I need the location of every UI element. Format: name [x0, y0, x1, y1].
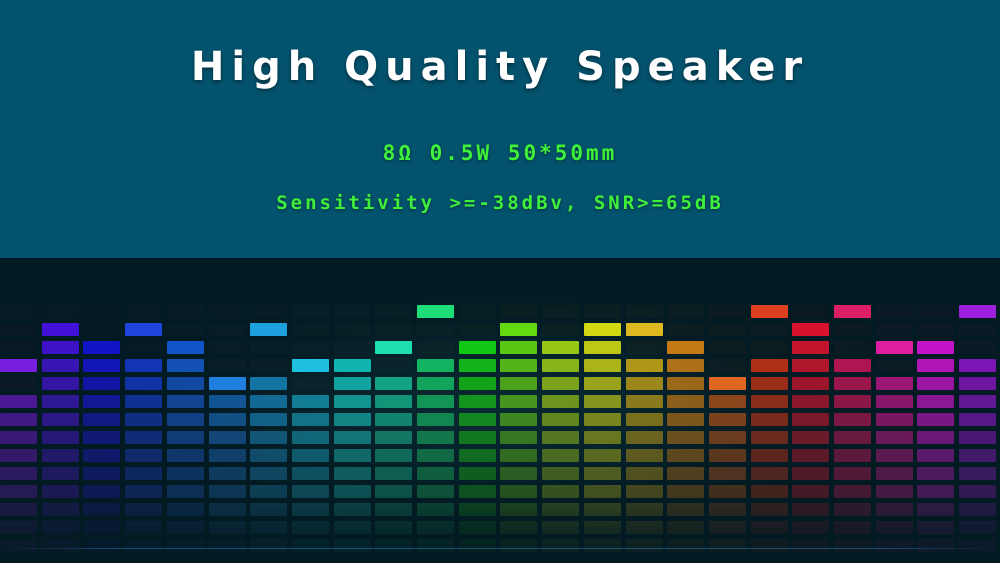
equalizer-column — [792, 258, 829, 563]
equalizer-segment — [417, 521, 454, 534]
equalizer-segment — [42, 395, 79, 408]
equalizer-segment — [167, 377, 204, 390]
equalizer-segment — [917, 395, 954, 408]
equalizer-segment — [834, 449, 871, 462]
equalizer-column — [209, 258, 246, 563]
equalizer-segment — [584, 485, 621, 498]
equalizer-segment — [0, 395, 37, 408]
equalizer-segment — [792, 359, 829, 372]
equalizer-segment — [125, 323, 162, 336]
equalizer-segment — [459, 431, 496, 444]
equalizer-segment — [209, 305, 246, 318]
equalizer-segment — [250, 341, 287, 354]
equalizer-segment — [500, 323, 537, 336]
equalizer-segment — [209, 359, 246, 372]
equalizer-segment — [125, 377, 162, 390]
equalizer-segment — [250, 449, 287, 462]
equalizer-segment — [626, 377, 663, 390]
equalizer-column — [709, 258, 746, 563]
equalizer-segment — [500, 359, 537, 372]
equalizer-segment — [751, 449, 788, 462]
equalizer-segment — [334, 377, 371, 390]
equalizer-segment — [542, 377, 579, 390]
equalizer-segment — [709, 377, 746, 390]
equalizer-segment — [334, 413, 371, 426]
equalizer-segment — [917, 431, 954, 444]
equalizer-segment — [375, 467, 412, 480]
equalizer-segment — [876, 503, 913, 516]
equalizer-segment — [0, 521, 37, 534]
equalizer-segment — [542, 413, 579, 426]
equalizer-segment — [709, 503, 746, 516]
equalizer-segment — [375, 377, 412, 390]
equalizer-segment — [0, 449, 37, 462]
equalizer-column — [834, 258, 871, 563]
equalizer-segment — [751, 431, 788, 444]
equalizer-segment — [500, 305, 537, 318]
equalizer-segment — [667, 431, 704, 444]
equalizer-segment — [542, 395, 579, 408]
equalizer-segment — [876, 467, 913, 480]
equalizer-segment — [250, 413, 287, 426]
equalizer-segment — [626, 503, 663, 516]
equalizer-segment — [584, 449, 621, 462]
equalizer-segment — [709, 323, 746, 336]
equalizer-segment — [83, 413, 120, 426]
equalizer-segment — [459, 503, 496, 516]
equalizer-segment — [542, 485, 579, 498]
equalizer-column — [459, 258, 496, 563]
equalizer-segment — [584, 341, 621, 354]
equalizer-segment — [292, 377, 329, 390]
equalizer-segment — [209, 485, 246, 498]
equalizer-segment — [667, 305, 704, 318]
equalizer-segment — [500, 341, 537, 354]
equalizer-segment — [792, 539, 829, 552]
equalizer-segment — [584, 413, 621, 426]
equalizer-grid — [0, 258, 1000, 563]
equalizer-segment — [792, 341, 829, 354]
equalizer-segment — [459, 467, 496, 480]
equalizer-column — [959, 258, 996, 563]
equalizer-segment — [792, 413, 829, 426]
equalizer-segment — [417, 359, 454, 372]
equalizer-segment — [209, 341, 246, 354]
equalizer-segment — [834, 431, 871, 444]
equalizer-segment — [751, 467, 788, 480]
equalizer-segment — [292, 485, 329, 498]
equalizer-segment — [709, 341, 746, 354]
equalizer-segment — [42, 449, 79, 462]
equalizer-segment — [459, 413, 496, 426]
equalizer-segment — [792, 449, 829, 462]
equalizer-segment — [167, 413, 204, 426]
equalizer-segment — [917, 449, 954, 462]
equalizer-segment — [292, 467, 329, 480]
equalizer-segment — [876, 395, 913, 408]
equalizer-segment — [250, 305, 287, 318]
equalizer-segment — [667, 467, 704, 480]
equalizer-segment — [125, 395, 162, 408]
equalizer-column — [167, 258, 204, 563]
equalizer-column — [83, 258, 120, 563]
equalizer-segment — [375, 539, 412, 552]
equalizer-segment — [375, 395, 412, 408]
equalizer-segment — [42, 413, 79, 426]
equalizer-segment — [0, 323, 37, 336]
equalizer-segment — [542, 359, 579, 372]
equalizer-segment — [626, 341, 663, 354]
equalizer-segment — [751, 305, 788, 318]
equalizer-segment — [209, 449, 246, 462]
equalizer-segment — [626, 467, 663, 480]
equalizer-segment — [917, 359, 954, 372]
equalizer-segment — [667, 395, 704, 408]
equalizer-segment — [167, 449, 204, 462]
equalizer-segment — [709, 305, 746, 318]
equalizer-segment — [626, 395, 663, 408]
equalizer-segment — [83, 521, 120, 534]
equalizer-segment — [0, 359, 37, 372]
equalizer-segment — [125, 359, 162, 372]
equalizer-segment — [42, 431, 79, 444]
equalizer-column — [667, 258, 704, 563]
equalizer-segment — [459, 323, 496, 336]
equalizer-segment — [83, 431, 120, 444]
equalizer-segment — [167, 359, 204, 372]
equalizer-segment — [584, 467, 621, 480]
equalizer-segment — [792, 467, 829, 480]
equalizer-segment — [250, 431, 287, 444]
equalizer-segment — [334, 485, 371, 498]
equalizer-segment — [125, 431, 162, 444]
equalizer-segment — [292, 341, 329, 354]
equalizer-segment — [917, 377, 954, 390]
equalizer-segment — [500, 485, 537, 498]
equalizer-segment — [292, 395, 329, 408]
equalizer-segment — [959, 341, 996, 354]
equalizer-segment — [834, 341, 871, 354]
equalizer-segment — [626, 449, 663, 462]
equalizer-segment — [42, 305, 79, 318]
equalizer-segment — [542, 431, 579, 444]
equalizer-segment — [209, 467, 246, 480]
equalizer-segment — [125, 341, 162, 354]
equalizer-segment — [959, 521, 996, 534]
equalizer-segment — [42, 341, 79, 354]
equalizer-segment — [876, 413, 913, 426]
equalizer-column — [751, 258, 788, 563]
equalizer-segment — [209, 503, 246, 516]
equalizer-segment — [125, 485, 162, 498]
equalizer-segment — [959, 395, 996, 408]
equalizer-segment — [542, 539, 579, 552]
equalizer-segment — [0, 377, 37, 390]
equalizer-segment — [542, 341, 579, 354]
equalizer-column — [417, 258, 454, 563]
equalizer-segment — [792, 485, 829, 498]
equalizer-segment — [500, 539, 537, 552]
equalizer-segment — [959, 539, 996, 552]
equalizer-segment — [459, 305, 496, 318]
equalizer-column — [917, 258, 954, 563]
equalizer-segment — [792, 431, 829, 444]
equalizer-segment — [584, 431, 621, 444]
equalizer-segment — [375, 305, 412, 318]
equalizer-segment — [542, 305, 579, 318]
equalizer-segment — [751, 323, 788, 336]
equalizer-segment — [917, 323, 954, 336]
equalizer-segment — [959, 305, 996, 318]
equalizer-segment — [375, 485, 412, 498]
equalizer-segment — [0, 503, 37, 516]
equalizer-segment — [876, 485, 913, 498]
equalizer-segment — [584, 359, 621, 372]
equalizer-segment — [626, 521, 663, 534]
equalizer-segment — [167, 521, 204, 534]
equalizer-segment — [125, 521, 162, 534]
equalizer-segment — [42, 323, 79, 336]
equalizer-segment — [834, 395, 871, 408]
equalizer-segment — [959, 449, 996, 462]
equalizer-segment — [292, 323, 329, 336]
equalizer-segment — [626, 431, 663, 444]
equalizer-segment — [709, 485, 746, 498]
equalizer-column — [626, 258, 663, 563]
equalizer-segment — [292, 413, 329, 426]
equalizer-segment — [709, 449, 746, 462]
equalizer-segment — [959, 359, 996, 372]
equalizer-segment — [83, 485, 120, 498]
equalizer-segment — [42, 377, 79, 390]
equalizer-segment — [792, 377, 829, 390]
equalizer-segment — [459, 395, 496, 408]
equalizer-segment — [250, 395, 287, 408]
equalizer-segment — [125, 305, 162, 318]
equalizer-segment — [667, 341, 704, 354]
equalizer-segment — [334, 503, 371, 516]
equalizer-column — [250, 258, 287, 563]
equalizer-segment — [292, 305, 329, 318]
equalizer-segment — [459, 521, 496, 534]
equalizer-segment — [959, 485, 996, 498]
equalizer-segment — [709, 467, 746, 480]
equalizer-segment — [500, 521, 537, 534]
equalizer-segment — [959, 503, 996, 516]
equalizer-segment — [542, 467, 579, 480]
equalizer-segment — [209, 413, 246, 426]
equalizer-segment — [876, 323, 913, 336]
equalizer-segment — [417, 431, 454, 444]
equalizer-column — [0, 258, 37, 563]
equalizer-segment — [834, 323, 871, 336]
equalizer-segment — [125, 539, 162, 552]
equalizer-segment — [42, 485, 79, 498]
equalizer-segment — [834, 539, 871, 552]
equalizer-segment — [626, 539, 663, 552]
equalizer-segment — [167, 503, 204, 516]
equalizer-segment — [167, 323, 204, 336]
equalizer-segment — [83, 341, 120, 354]
equalizer-segment — [292, 521, 329, 534]
equalizer-segment — [584, 503, 621, 516]
equalizer-segment — [0, 485, 37, 498]
equalizer-segment — [375, 323, 412, 336]
equalizer-segment — [83, 467, 120, 480]
equalizer-segment — [167, 431, 204, 444]
equalizer-segment — [917, 503, 954, 516]
equalizer-segment — [334, 323, 371, 336]
equalizer-segment — [917, 539, 954, 552]
equalizer-segment — [667, 359, 704, 372]
equalizer-segment — [334, 395, 371, 408]
equalizer-segment — [917, 305, 954, 318]
equalizer-segment — [834, 305, 871, 318]
equalizer-segment — [542, 503, 579, 516]
equalizer-column — [500, 258, 537, 563]
equalizer-segment — [0, 413, 37, 426]
equalizer-segment — [751, 521, 788, 534]
equalizer-segment — [125, 413, 162, 426]
equalizer-segment — [876, 359, 913, 372]
equalizer-segment — [500, 377, 537, 390]
equalizer-segment — [167, 485, 204, 498]
equalizer-column — [584, 258, 621, 563]
equalizer-column — [375, 258, 412, 563]
equalizer-segment — [626, 359, 663, 372]
equalizer-segment — [42, 503, 79, 516]
equalizer-segment — [667, 413, 704, 426]
equalizer-segment — [834, 377, 871, 390]
equalizer-segment — [334, 539, 371, 552]
equalizer-segment — [709, 359, 746, 372]
equalizer-segment — [876, 341, 913, 354]
equalizer-segment — [417, 305, 454, 318]
equalizer-segment — [667, 323, 704, 336]
equalizer-segment — [125, 449, 162, 462]
equalizer-segment — [334, 467, 371, 480]
equalizer-segment — [459, 377, 496, 390]
equalizer-segment — [83, 305, 120, 318]
equalizer-segment — [876, 521, 913, 534]
equalizer-segment — [417, 485, 454, 498]
spec-line-one: 8Ω 0.5W 50*50mm — [0, 141, 1000, 165]
equalizer-segment — [626, 323, 663, 336]
equalizer-segment — [834, 503, 871, 516]
equalizer-segment — [0, 539, 37, 552]
equalizer-segment — [751, 341, 788, 354]
equalizer-segment — [500, 431, 537, 444]
equalizer-segment — [834, 359, 871, 372]
equalizer-segment — [667, 377, 704, 390]
equalizer-segment — [417, 449, 454, 462]
equalizer-segment — [626, 305, 663, 318]
equalizer-column — [292, 258, 329, 563]
equalizer-segment — [417, 539, 454, 552]
equalizer-segment — [834, 521, 871, 534]
equalizer-segment — [250, 323, 287, 336]
equalizer-segment — [667, 521, 704, 534]
equalizer-segment — [42, 467, 79, 480]
equalizer-segment — [626, 413, 663, 426]
equalizer-segment — [250, 467, 287, 480]
spec-line-two: Sensitivity >=-38dBv, SNR>=65dB — [0, 192, 1000, 214]
equalizer-segment — [667, 449, 704, 462]
equalizer-segment — [542, 521, 579, 534]
equalizer-column — [125, 258, 162, 563]
equalizer-segment — [667, 485, 704, 498]
equalizer-segment — [209, 323, 246, 336]
equalizer-segment — [876, 305, 913, 318]
equalizer-segment — [42, 359, 79, 372]
equalizer-segment — [334, 341, 371, 354]
equalizer-segment — [709, 395, 746, 408]
equalizer-segment — [709, 413, 746, 426]
equalizer-segment — [959, 377, 996, 390]
equalizer-segment — [250, 485, 287, 498]
equalizer-segment — [167, 341, 204, 354]
equalizer-segment — [375, 359, 412, 372]
equalizer-segment — [709, 521, 746, 534]
equalizer-segment — [209, 377, 246, 390]
equalizer-segment — [292, 449, 329, 462]
equalizer-segment — [917, 413, 954, 426]
equalizer-segment — [167, 467, 204, 480]
visualizer-panel — [0, 258, 1000, 563]
equalizer-segment — [876, 377, 913, 390]
equalizer-segment — [542, 449, 579, 462]
equalizer-segment — [83, 539, 120, 552]
equalizer-segment — [0, 467, 37, 480]
equalizer-segment — [167, 539, 204, 552]
equalizer-segment — [751, 359, 788, 372]
equalizer-segment — [709, 539, 746, 552]
equalizer-segment — [584, 521, 621, 534]
equalizer-segment — [917, 485, 954, 498]
equalizer-segment — [917, 467, 954, 480]
equalizer-segment — [250, 521, 287, 534]
equalizer-segment — [500, 503, 537, 516]
equalizer-segment — [417, 467, 454, 480]
equalizer-segment — [292, 539, 329, 552]
equalizer-segment — [167, 305, 204, 318]
equalizer-segment — [417, 395, 454, 408]
equalizer-segment — [209, 431, 246, 444]
header-banner: High Quality Speaker 8Ω 0.5W 50*50mm Sen… — [0, 0, 1000, 258]
equalizer-segment — [542, 323, 579, 336]
equalizer-segment — [334, 449, 371, 462]
equalizer-segment — [584, 305, 621, 318]
equalizer-segment — [459, 449, 496, 462]
equalizer-segment — [876, 539, 913, 552]
equalizer-segment — [209, 539, 246, 552]
equalizer-segment — [375, 449, 412, 462]
equalizer-segment — [0, 305, 37, 318]
equalizer-segment — [751, 485, 788, 498]
equalizer-segment — [334, 431, 371, 444]
equalizer-column — [876, 258, 913, 563]
equalizer-segment — [667, 539, 704, 552]
equalizer-segment — [751, 377, 788, 390]
equalizer-segment — [125, 503, 162, 516]
equalizer-column — [542, 258, 579, 563]
equalizer-segment — [334, 359, 371, 372]
equalizer-segment — [959, 431, 996, 444]
equalizer-segment — [375, 521, 412, 534]
equalizer-segment — [876, 431, 913, 444]
equalizer-segment — [792, 503, 829, 516]
equalizer-segment — [0, 431, 37, 444]
